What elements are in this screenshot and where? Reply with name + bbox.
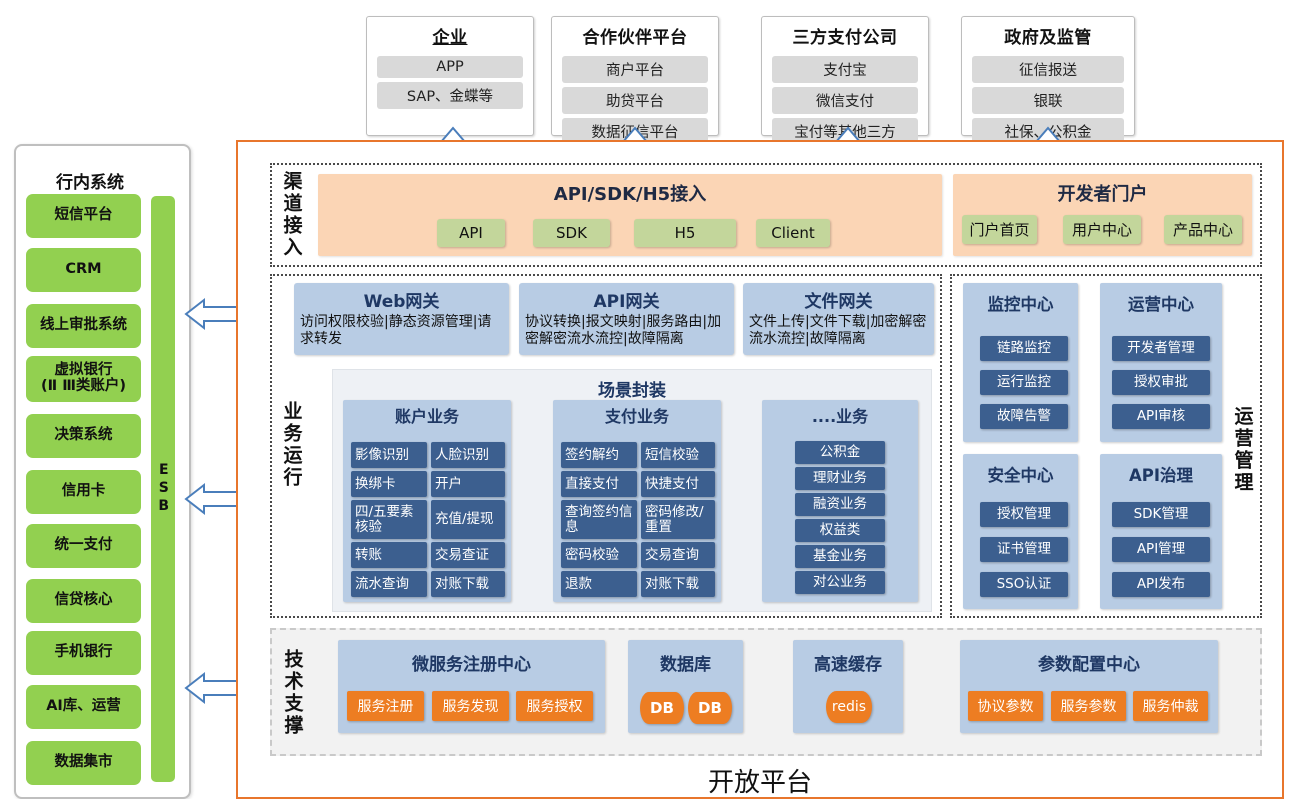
actor-box-third-party-payment: 三方支付公司 支付宝 微信支付 宝付等其他三方 bbox=[761, 16, 929, 136]
chip-label: 融资业务 bbox=[813, 497, 867, 512]
chip-label: 短信校验 bbox=[645, 448, 699, 463]
channel-chip-client: Client bbox=[756, 219, 830, 247]
bank-item-credit-card: 信用卡 bbox=[26, 470, 141, 514]
chip-label: 退款 bbox=[565, 577, 592, 592]
bank-item-label: 数据集市 bbox=[55, 755, 113, 771]
portal-chip-product-center: 产品中心 bbox=[1164, 215, 1242, 244]
channel-chip-sdk: SDK bbox=[533, 219, 610, 247]
database-cylinder-2: DB bbox=[688, 692, 732, 724]
bank-item-label: 短信平台 bbox=[55, 208, 113, 224]
chip-label: API审核 bbox=[1137, 409, 1185, 424]
chip-label: 链路监控 bbox=[997, 341, 1051, 356]
actor-item: 助贷平台 bbox=[562, 87, 708, 114]
ops-chip: 链路监控 bbox=[980, 336, 1068, 361]
chip-label: 服务发现 bbox=[443, 696, 499, 716]
chip-label: 四/五要素核验 bbox=[355, 505, 427, 535]
bank-item-label: 信贷核心 bbox=[55, 593, 113, 609]
actor-item: 支付宝 bbox=[772, 56, 918, 83]
ops-card-title: 监控中心 bbox=[963, 291, 1078, 315]
esb-bus: ESB bbox=[151, 196, 175, 782]
redis-cylinder: redis bbox=[826, 691, 872, 723]
chip-label: 证书管理 bbox=[997, 542, 1051, 557]
bank-item-label: 决策系统 bbox=[55, 428, 113, 444]
chip-label: API发布 bbox=[1137, 577, 1185, 592]
scene-chip: 人脸识别 bbox=[431, 442, 505, 468]
bank-item-ai-lib-operations: AI库、运营 bbox=[26, 685, 141, 729]
bank-item-mobile-banking: 手机银行 bbox=[26, 631, 141, 675]
bank-item-credit-core: 信贷核心 bbox=[26, 579, 141, 623]
scene-chip: 转账 bbox=[351, 542, 427, 568]
chip-label: 快捷支付 bbox=[645, 477, 699, 492]
scene-chip: 开户 bbox=[431, 471, 505, 497]
scene-chip: 快捷支付 bbox=[641, 471, 715, 497]
ops-card-title: 运营中心 bbox=[1100, 291, 1222, 315]
ops-card-title: 安全中心 bbox=[963, 462, 1078, 486]
chip-label: 转账 bbox=[355, 548, 382, 563]
actor-item: 微信支付 bbox=[772, 87, 918, 114]
scene-chip: 流水查询 bbox=[351, 571, 427, 597]
chip-label: 直接支付 bbox=[565, 477, 619, 492]
gateway-title: API网关 bbox=[519, 287, 734, 312]
ops-card-title: API治理 bbox=[1100, 462, 1222, 486]
esb-label: ESB bbox=[154, 462, 172, 516]
chip-label: 用户中心 bbox=[1072, 219, 1132, 240]
tech-chip-protocol-params: 协议参数 bbox=[968, 691, 1043, 721]
chip-label: 产品中心 bbox=[1173, 219, 1233, 240]
scene-chip: 短信校验 bbox=[641, 442, 715, 468]
actor-title: 政府及监管 bbox=[1004, 23, 1092, 48]
ops-chip: SDK管理 bbox=[1112, 502, 1210, 527]
chip-label: SDK bbox=[556, 224, 587, 242]
gateway-desc: 文件上传|文件下载|加密解密流水流控|故障隔离 bbox=[743, 314, 934, 347]
chip-label: 交易查询 bbox=[645, 548, 699, 563]
scene-chip: 查询签约信息 bbox=[561, 500, 637, 539]
bank-item-label: 统一支付 bbox=[55, 538, 113, 554]
gateway-card-web: Web网关 访问权限校验|静态资源管理|请求转发 bbox=[294, 283, 509, 355]
chip-label: 影像识别 bbox=[355, 448, 409, 463]
chip-label: 基金业务 bbox=[813, 549, 867, 564]
scene-encapsulation-title: 场景封装 bbox=[332, 376, 932, 401]
chip-label: 协议参数 bbox=[978, 696, 1034, 716]
actor-box-partner-platform: 合作伙伴平台 商户平台 助贷平台 数据征信平台 bbox=[551, 16, 719, 136]
api-sdk-h5-access-title: API/SDK/H5接入 bbox=[318, 180, 942, 206]
actor-item: 征信报送 bbox=[972, 56, 1124, 83]
tech-chip-service-register: 服务注册 bbox=[347, 691, 424, 721]
ops-chip: API审核 bbox=[1112, 404, 1210, 429]
gateway-card-api: API网关 协议转换|报文映射|服务路由|加密解密流水流控|故障隔离 bbox=[519, 283, 734, 355]
gateway-title: 文件网关 bbox=[743, 287, 934, 312]
scene-chip: 四/五要素核验 bbox=[351, 500, 427, 539]
chip-label: 对公业务 bbox=[813, 575, 867, 590]
chip-label: 开发者管理 bbox=[1127, 341, 1195, 356]
actor-item: 银联 bbox=[972, 87, 1124, 114]
chip-label: 流水查询 bbox=[355, 577, 409, 592]
bank-item-label: 虚拟银行 (Ⅱ Ⅲ类账户) bbox=[41, 363, 126, 394]
channel-chip-h5: H5 bbox=[634, 219, 736, 247]
ops-chip: API管理 bbox=[1112, 537, 1210, 562]
business-run-vertical-label: 业务运行 bbox=[276, 385, 306, 505]
scene-chip: 公积金 bbox=[795, 441, 885, 464]
tech-card-title: 微服务注册中心 bbox=[338, 650, 605, 675]
scene-group-title: ....业务 bbox=[762, 403, 918, 427]
gateway-desc: 协议转换|报文映射|服务路由|加密解密流水流控|故障隔离 bbox=[519, 314, 734, 347]
scene-group-title: 账户业务 bbox=[343, 403, 511, 427]
ops-chip: 证书管理 bbox=[980, 537, 1068, 562]
cylinder-label: redis bbox=[832, 699, 866, 715]
scene-chip: 基金业务 bbox=[795, 545, 885, 568]
chip-label: H5 bbox=[675, 224, 696, 242]
chip-label: 对账下载 bbox=[435, 577, 489, 592]
bank-item-decision-system: 决策系统 bbox=[26, 414, 141, 458]
bank-systems-title: 行内系统 bbox=[20, 168, 160, 193]
actor-title: 三方支付公司 bbox=[793, 23, 898, 48]
tech-chip-service-authorize: 服务授权 bbox=[516, 691, 593, 721]
scene-chip: 密码修改/重置 bbox=[641, 500, 715, 539]
tech-card-title: 高速缓存 bbox=[793, 650, 903, 675]
scene-chip: 融资业务 bbox=[795, 493, 885, 516]
chip-label: 门户首页 bbox=[969, 219, 1029, 240]
tech-chip-service-arbitration: 服务仲裁 bbox=[1133, 691, 1208, 721]
scene-chip: 对账下载 bbox=[641, 571, 715, 597]
chip-label: 换绑卡 bbox=[355, 477, 396, 492]
scene-chip: 换绑卡 bbox=[351, 471, 427, 497]
channel-access-vertical-label: 渠道接入 bbox=[276, 168, 306, 262]
bank-item-label: 手机银行 bbox=[55, 645, 113, 661]
ops-chip: 运行监控 bbox=[980, 370, 1068, 395]
bank-item-label: AI库、运营 bbox=[46, 699, 121, 715]
tech-card-title: 数据库 bbox=[628, 650, 743, 675]
actor-item: SAP、金蝶等 bbox=[377, 82, 523, 109]
scene-chip: 交易查询 bbox=[641, 542, 715, 568]
chip-label: 人脸识别 bbox=[435, 448, 489, 463]
actor-box-enterprise: 企业 APP SAP、金蝶等 bbox=[366, 16, 534, 136]
chip-label: Client bbox=[771, 224, 814, 242]
chip-label: 服务仲裁 bbox=[1143, 696, 1199, 716]
actor-box-government-regulator: 政府及监管 征信报送 银联 社保、公积金 bbox=[961, 16, 1135, 136]
actor-title: 企业 bbox=[433, 23, 468, 48]
bank-item-sms-platform: 短信平台 bbox=[26, 194, 141, 238]
chip-label: 授权管理 bbox=[997, 507, 1051, 522]
chip-label: 查询签约信息 bbox=[565, 505, 637, 535]
chip-label: SDK管理 bbox=[1134, 507, 1189, 522]
chip-label: 服务授权 bbox=[527, 696, 583, 716]
chip-label: 服务参数 bbox=[1061, 696, 1117, 716]
actor-item: 商户平台 bbox=[562, 56, 708, 83]
tech-chip-service-discovery: 服务发现 bbox=[432, 691, 509, 721]
chip-label: 理财业务 bbox=[813, 471, 867, 486]
bank-item-data-mart: 数据集市 bbox=[26, 741, 141, 785]
scene-chip: 退款 bbox=[561, 571, 637, 597]
bank-item-virtual-bank: 虚拟银行 (Ⅱ Ⅲ类账户) bbox=[26, 356, 141, 402]
scene-chip: 签约解约 bbox=[561, 442, 637, 468]
scene-chip: 充值/提现 bbox=[431, 500, 505, 539]
ops-chip: API发布 bbox=[1112, 572, 1210, 597]
cylinder-label: DB bbox=[650, 699, 674, 717]
scene-chip: 密码校验 bbox=[561, 542, 637, 568]
tech-support-vertical-label: 技术支撑 bbox=[277, 638, 307, 748]
bank-item-label: CRM bbox=[65, 262, 101, 278]
chip-label: 运行监控 bbox=[997, 375, 1051, 390]
bank-item-label: 信用卡 bbox=[62, 484, 106, 500]
gateway-title: Web网关 bbox=[294, 287, 509, 312]
chip-label: 签约解约 bbox=[565, 448, 619, 463]
actor-title: 合作伙伴平台 bbox=[583, 23, 688, 48]
api-sdk-h5-access-card: API/SDK/H5接入 bbox=[318, 174, 942, 256]
chip-label: 交易查证 bbox=[435, 548, 489, 563]
tech-card-title: 参数配置中心 bbox=[960, 650, 1218, 675]
gateway-desc: 访问权限校验|静态资源管理|请求转发 bbox=[294, 314, 509, 347]
ops-chip: 授权审批 bbox=[1112, 370, 1210, 395]
cylinder-label: DB bbox=[698, 699, 722, 717]
bank-item-label: 线上审批系统 bbox=[40, 318, 127, 334]
scene-chip: 对公业务 bbox=[795, 571, 885, 594]
portal-chip-user-center: 用户中心 bbox=[1063, 215, 1141, 244]
scene-group-title: 支付业务 bbox=[553, 403, 721, 427]
chip-label: 公积金 bbox=[820, 445, 861, 460]
chip-label: API bbox=[459, 224, 483, 242]
chip-label: SSO认证 bbox=[997, 577, 1052, 592]
tech-chip-service-params: 服务参数 bbox=[1051, 691, 1126, 721]
database-cylinder-1: DB bbox=[640, 692, 684, 724]
ops-chip: 故障告警 bbox=[980, 404, 1068, 429]
platform-title: 开放平台 bbox=[236, 762, 1284, 799]
scene-chip: 影像识别 bbox=[351, 442, 427, 468]
bank-item-online-approval: 线上审批系统 bbox=[26, 304, 141, 348]
gateway-card-file: 文件网关 文件上传|文件下载|加密解密流水流控|故障隔离 bbox=[743, 283, 934, 355]
chip-label: 权益类 bbox=[820, 523, 861, 538]
chip-label: 密码修改/重置 bbox=[645, 505, 715, 535]
bank-item-unified-payment: 统一支付 bbox=[26, 524, 141, 568]
chip-label: 充值/提现 bbox=[435, 512, 494, 527]
scene-chip: 对账下载 bbox=[431, 571, 505, 597]
scene-chip: 直接支付 bbox=[561, 471, 637, 497]
scene-chip: 交易查证 bbox=[431, 542, 505, 568]
scene-chip: 理财业务 bbox=[795, 467, 885, 490]
ops-chip: 开发者管理 bbox=[1112, 336, 1210, 361]
ops-chip: SSO认证 bbox=[980, 572, 1068, 597]
chip-label: 对账下载 bbox=[645, 577, 699, 592]
channel-chip-api: API bbox=[437, 219, 505, 247]
chip-label: 授权审批 bbox=[1134, 375, 1188, 390]
actor-item: APP bbox=[377, 56, 523, 78]
portal-chip-home: 门户首页 bbox=[962, 215, 1037, 244]
scene-chip: 权益类 bbox=[795, 519, 885, 542]
chip-label: API管理 bbox=[1137, 542, 1185, 557]
chip-label: 故障告警 bbox=[997, 409, 1051, 424]
ops-chip: 授权管理 bbox=[980, 502, 1068, 527]
chip-label: 开户 bbox=[435, 477, 462, 492]
developer-portal-title: 开发者门户 bbox=[953, 180, 1252, 206]
chip-label: 密码校验 bbox=[565, 548, 619, 563]
bank-item-crm: CRM bbox=[26, 248, 141, 292]
ops-management-vertical-label: 运营管理 bbox=[1227, 390, 1257, 510]
chip-label: 服务注册 bbox=[358, 696, 414, 716]
